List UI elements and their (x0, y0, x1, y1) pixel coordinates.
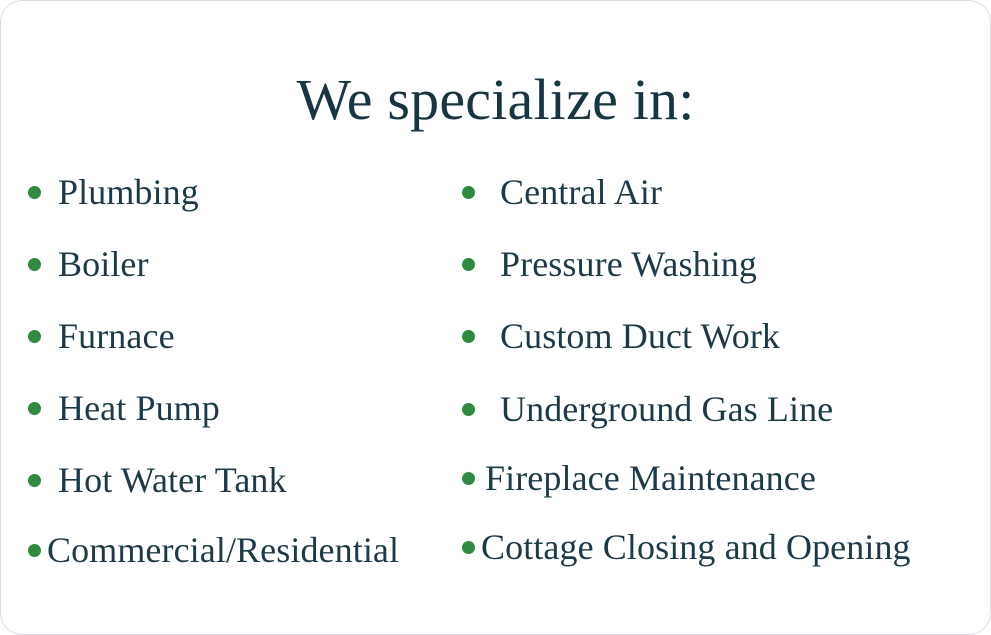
list-item: Furnace (28, 316, 175, 356)
list-item: Commercial/Residential (28, 530, 399, 570)
list-item: Pressure Washing (462, 244, 757, 284)
list-item: Heat Pump (28, 388, 220, 428)
filled-circle-bullet (462, 403, 475, 416)
list-item: Boiler (28, 244, 149, 284)
filled-circle-bullet (28, 186, 41, 199)
list-item: Central Air (462, 172, 662, 212)
filled-circle-bullet (28, 258, 41, 271)
filled-circle-bullet (462, 541, 475, 554)
filled-circle-bullet (462, 472, 475, 485)
service-label: Fireplace Maintenance (485, 458, 816, 498)
service-label: Cottage Closing and Opening (481, 527, 911, 567)
services-card: We specialize in: PlumbingBoilerFurnaceH… (0, 0, 991, 635)
filled-circle-bullet (462, 186, 475, 199)
list-item: Cottage Closing and Opening (462, 527, 911, 567)
page-title: We specialize in: (0, 65, 991, 135)
service-label: Furnace (58, 316, 175, 356)
service-label: Pressure Washing (500, 244, 757, 284)
services-column-right: Central AirPressure WashingCustom Duct W… (462, 160, 982, 590)
list-item: Underground Gas Line (462, 389, 833, 429)
service-label: Commercial/Residential (47, 530, 399, 570)
filled-circle-bullet (28, 474, 41, 487)
service-label: Boiler (58, 244, 149, 284)
service-label: Heat Pump (58, 388, 220, 428)
service-label: Underground Gas Line (500, 389, 833, 429)
services-columns: PlumbingBoilerFurnaceHeat PumpHot Water … (0, 160, 991, 590)
services-column-left: PlumbingBoilerFurnaceHeat PumpHot Water … (28, 160, 458, 590)
filled-circle-bullet (28, 402, 41, 415)
filled-circle-bullet (28, 544, 41, 557)
list-item: Hot Water Tank (28, 460, 287, 500)
service-label: Hot Water Tank (58, 460, 287, 500)
list-item: Plumbing (28, 172, 199, 212)
list-item: Custom Duct Work (462, 316, 780, 356)
service-label: Custom Duct Work (500, 316, 780, 356)
service-label: Plumbing (58, 172, 199, 212)
service-label: Central Air (500, 172, 662, 212)
filled-circle-bullet (462, 258, 475, 271)
list-item: Fireplace Maintenance (462, 458, 816, 498)
filled-circle-bullet (28, 330, 41, 343)
filled-circle-bullet (462, 330, 475, 343)
